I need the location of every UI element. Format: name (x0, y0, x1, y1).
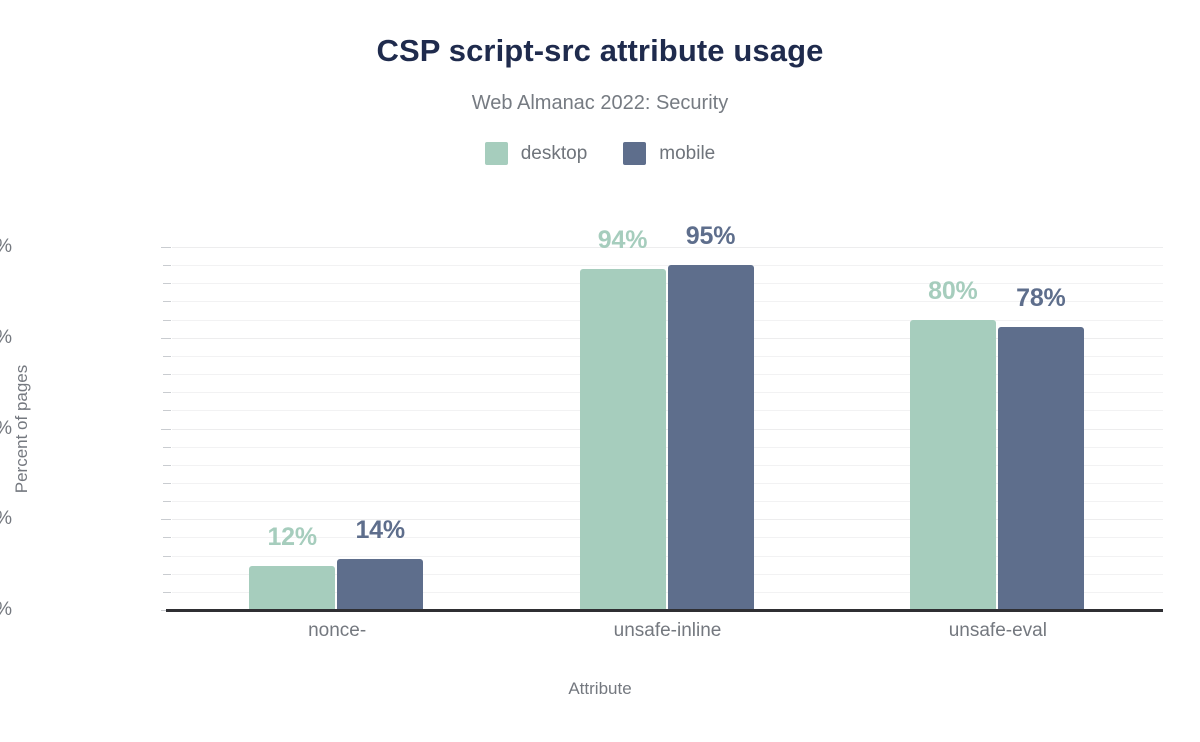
x-tick-label-unsafe-inline: unsafe-inline (614, 620, 722, 642)
x-tick-label-unsafe-eval: unsafe-eval (949, 620, 1047, 642)
y-tick-mark (163, 320, 171, 321)
y-tick-mark (163, 447, 171, 448)
legend-swatch-mobile (623, 142, 646, 165)
x-axis-title: Attribute (0, 679, 1200, 699)
y-tick-mark (161, 519, 171, 520)
x-axis-baseline (166, 609, 1163, 612)
legend-swatch-desktop (485, 142, 508, 165)
bar-label-desktop-unsafe-eval: 80% (928, 277, 977, 306)
y-tick-mark (161, 338, 171, 339)
bar-label-mobile-unsafe-inline: 95% (686, 222, 735, 251)
y-tick-mark (163, 574, 171, 575)
y-tick-mark (163, 556, 171, 557)
bar-desktop-nonce-[interactable] (249, 566, 335, 610)
legend-item-desktop[interactable]: desktop (485, 142, 588, 165)
y-tick-mark (163, 265, 171, 266)
chart-title: CSP script-src attribute usage (0, 33, 1200, 69)
y-tick-mark (163, 465, 171, 466)
y-tick-mark (163, 356, 171, 357)
y-tick-mark (163, 483, 171, 484)
gridline-major (172, 247, 1163, 248)
legend-label-mobile: mobile (659, 144, 715, 163)
bar-chart: CSP script-src attribute usage Web Alman… (0, 0, 1200, 742)
y-tick-mark (163, 301, 171, 302)
x-tick-label-nonce-: nonce- (308, 620, 366, 642)
bar-label-desktop-unsafe-inline: 94% (598, 226, 647, 255)
bar-mobile-nonce-[interactable] (337, 559, 423, 610)
y-tick-mark (163, 501, 171, 502)
y-tick-mark (161, 429, 171, 430)
legend-item-mobile[interactable]: mobile (623, 142, 715, 165)
bar-desktop-unsafe-eval[interactable] (910, 320, 996, 610)
y-tick-label: 100% (0, 236, 12, 258)
y-tick-mark (163, 410, 171, 411)
y-tick-mark (163, 537, 171, 538)
legend-label-desktop: desktop (521, 144, 588, 163)
bar-mobile-unsafe-eval[interactable] (998, 327, 1084, 610)
bar-label-mobile-unsafe-eval: 78% (1016, 284, 1065, 313)
y-tick-mark (163, 374, 171, 375)
chart-legend: desktop mobile (0, 142, 1200, 165)
bar-mobile-unsafe-inline[interactable] (668, 265, 754, 610)
bar-label-mobile-nonce-: 14% (355, 516, 404, 545)
bar-label-desktop-nonce-: 12% (267, 523, 316, 552)
y-axis-title: Percent of pages (12, 365, 32, 494)
y-tick-label: 25% (0, 508, 12, 530)
y-tick-label: 75% (0, 327, 12, 349)
chart-subtitle: Web Almanac 2022: Security (0, 92, 1200, 115)
y-tick-mark (163, 592, 171, 593)
bar-desktop-unsafe-inline[interactable] (580, 269, 666, 610)
y-tick-mark (163, 283, 171, 284)
y-tick-mark (163, 392, 171, 393)
y-tick-label: 0% (0, 599, 12, 621)
plot-area (172, 247, 1163, 610)
y-tick-label: 50% (0, 418, 12, 440)
y-tick-mark (161, 247, 171, 248)
